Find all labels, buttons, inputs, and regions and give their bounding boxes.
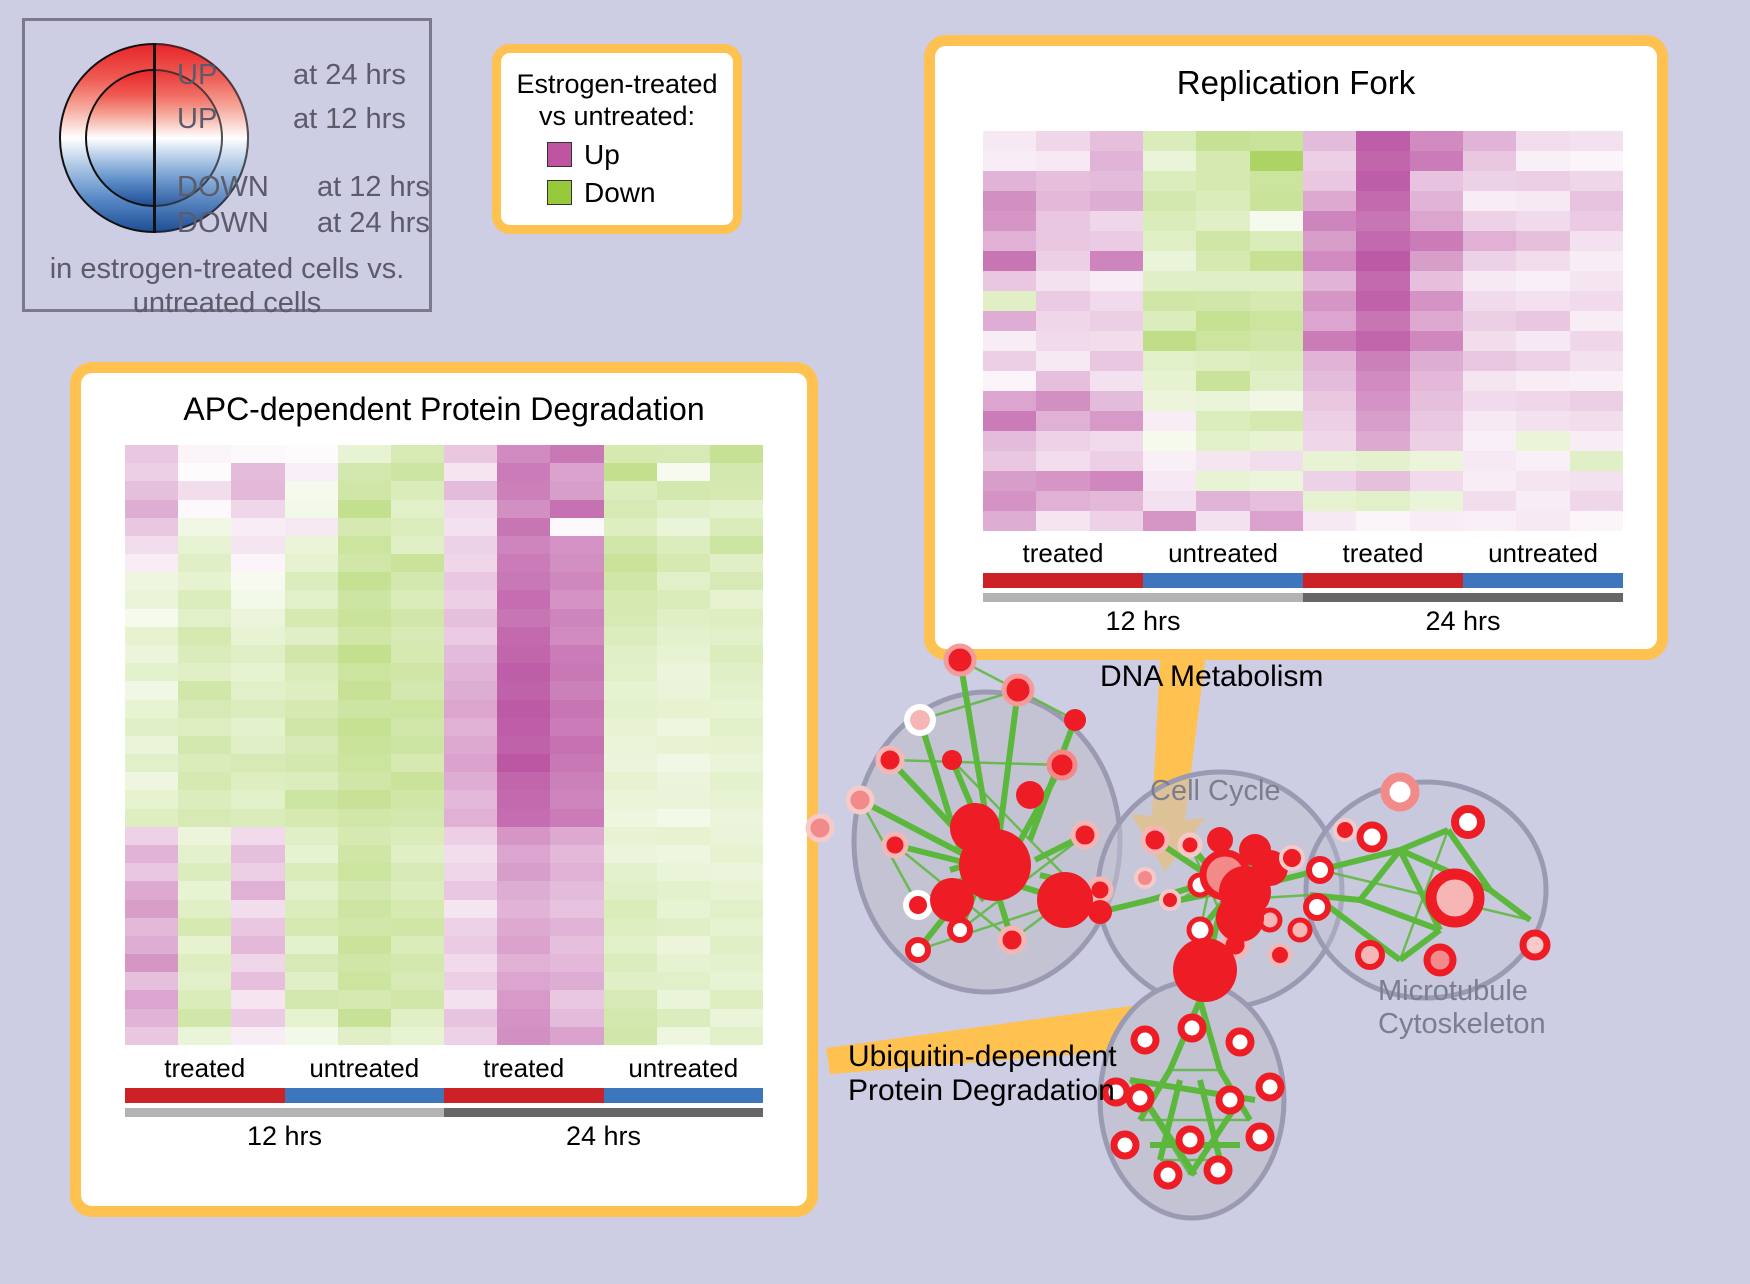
heatmap-cell xyxy=(125,845,178,863)
group-bar-treated-24 xyxy=(444,1088,604,1103)
heatmap-cell xyxy=(285,990,338,1008)
heatmap-cell xyxy=(231,572,284,590)
heatmap-cell xyxy=(1463,191,1516,211)
network-node xyxy=(1049,752,1075,778)
heatmap-cell xyxy=(1090,271,1143,291)
heatmap-cell xyxy=(231,1009,284,1027)
heatmap-cell xyxy=(444,754,497,772)
heatmap-cell xyxy=(1143,151,1196,171)
heatmap-cell xyxy=(1303,411,1356,431)
heatmap-cell xyxy=(983,151,1036,171)
heatmap-cell xyxy=(1250,271,1303,291)
heatmap-cell xyxy=(1410,391,1463,411)
heatmap-cell xyxy=(710,827,763,845)
heatmap-cell xyxy=(497,663,550,681)
heatmap-cell xyxy=(983,211,1036,231)
heatmap-cell xyxy=(391,463,444,481)
heatmap-cell xyxy=(497,445,550,463)
heatmap-cell xyxy=(1196,251,1249,271)
treatment-color-bar xyxy=(125,1088,763,1103)
heatmap-cell xyxy=(1090,411,1143,431)
heatmap-cell xyxy=(983,271,1036,291)
heatmap-cell xyxy=(550,900,603,918)
heatmap-cell xyxy=(1463,331,1516,351)
heatmap-cell xyxy=(1463,271,1516,291)
heatmap-cell xyxy=(338,718,391,736)
heatmap-cell xyxy=(1250,291,1303,311)
estrogen-legend-title: Estrogen-treated vs untreated: xyxy=(515,69,719,133)
heatmap-cell xyxy=(125,754,178,772)
heatmap-cell xyxy=(1410,351,1463,371)
heatmap-cell xyxy=(1463,471,1516,491)
heatmap-cell xyxy=(710,863,763,881)
estrogen-comparison-legend: Estrogen-treated vs untreated: Up Down xyxy=(492,44,742,234)
heatmap-cell xyxy=(1356,131,1409,151)
heatmap-cell xyxy=(1143,271,1196,291)
heatmap-cell xyxy=(1463,411,1516,431)
heatmap-cell xyxy=(1303,291,1356,311)
down-label: Down xyxy=(584,177,656,209)
heatmap-cell xyxy=(285,463,338,481)
heatmap-cell xyxy=(657,518,710,536)
heatmap-cell xyxy=(125,827,178,845)
heatmap-cell xyxy=(178,809,231,827)
heatmap-cell xyxy=(444,445,497,463)
heatmap-cell xyxy=(1516,131,1569,151)
heatmap-cell xyxy=(1143,451,1196,471)
heatmap-cell xyxy=(391,900,444,918)
heatmap-cell xyxy=(1463,291,1516,311)
network-node xyxy=(907,707,933,733)
heatmap-cell xyxy=(178,990,231,1008)
heatmap-cell xyxy=(604,772,657,790)
heatmap-cell xyxy=(1250,451,1303,471)
heatmap-cell xyxy=(497,463,550,481)
heatmap-cell xyxy=(1356,351,1409,371)
heatmap-cell xyxy=(125,536,178,554)
heatmap-cell xyxy=(710,772,763,790)
heatmap-cell xyxy=(444,972,497,990)
heatmap-cell xyxy=(338,936,391,954)
network-node xyxy=(1385,777,1415,807)
heatmap-cell xyxy=(125,645,178,663)
heatmap-cell xyxy=(550,918,603,936)
heatmap-cell xyxy=(710,645,763,663)
heatmap-cell xyxy=(391,863,444,881)
heatmap-cell xyxy=(444,500,497,518)
heatmap-cell xyxy=(1090,131,1143,151)
heatmap-cell xyxy=(1090,511,1143,531)
heatmap-cell xyxy=(710,681,763,699)
legend-time-24-down: at 24 hrs xyxy=(317,207,430,240)
heatmap-cell xyxy=(178,754,231,772)
heatmap-cell xyxy=(657,845,710,863)
heatmap-cell xyxy=(710,790,763,808)
heatmap-cell xyxy=(710,900,763,918)
heatmap-cell xyxy=(497,827,550,845)
heatmap-cell xyxy=(604,536,657,554)
heatmap-cell xyxy=(550,500,603,518)
heatmap-cell xyxy=(285,881,338,899)
heatmap-cell xyxy=(1143,251,1196,271)
heatmap-cell xyxy=(178,663,231,681)
heatmap-cell xyxy=(125,936,178,954)
heatmap-cell xyxy=(710,590,763,608)
heatmap-cell xyxy=(444,590,497,608)
replication-fork-title: Replication Fork xyxy=(935,64,1657,102)
heatmap-cell xyxy=(1250,371,1303,391)
heatmap-cell xyxy=(1036,131,1089,151)
network-node xyxy=(1270,945,1290,965)
heatmap-cell xyxy=(1303,251,1356,271)
heatmap-cell xyxy=(657,736,710,754)
heatmap-cell xyxy=(231,990,284,1008)
heatmap-cell xyxy=(1250,351,1303,371)
heatmap-cell xyxy=(1303,231,1356,251)
heatmap-cell xyxy=(1516,311,1569,331)
heatmap-cell xyxy=(1570,451,1623,471)
heatmap-cell xyxy=(550,663,603,681)
heatmap-cell xyxy=(710,881,763,899)
heatmap-cell xyxy=(710,572,763,590)
heatmap-cell xyxy=(125,736,178,754)
heatmap-cell xyxy=(1516,191,1569,211)
network-node xyxy=(946,646,974,674)
heatmap-cell xyxy=(657,809,710,827)
heatmap-cell xyxy=(231,1027,284,1045)
heatmap-cell xyxy=(604,700,657,718)
heatmap-cell xyxy=(1410,251,1463,271)
network-node xyxy=(1134,1029,1156,1051)
heatmap-cell xyxy=(550,572,603,590)
heatmap-cell xyxy=(1463,151,1516,171)
heatmap-cell xyxy=(178,554,231,572)
group-bar-treated-24 xyxy=(1303,573,1463,588)
heatmap-cell xyxy=(338,1009,391,1027)
heatmap-cell xyxy=(1356,431,1409,451)
heatmap-cell xyxy=(657,681,710,699)
network-node xyxy=(1309,859,1331,881)
heatmap-cell xyxy=(550,936,603,954)
heatmap-cell xyxy=(1516,351,1569,371)
replication-fork-heatmap xyxy=(983,131,1623,531)
apc-title: APC-dependent Protein Degradation xyxy=(81,391,807,428)
heatmap-cell xyxy=(444,845,497,863)
heatmap-cell xyxy=(231,681,284,699)
heatmap-cell xyxy=(1143,311,1196,331)
heatmap-cell xyxy=(550,518,603,536)
heatmap-cell xyxy=(125,500,178,518)
heatmap-cell xyxy=(178,700,231,718)
heatmap-cell xyxy=(1410,471,1463,491)
network-node-hub xyxy=(1216,894,1264,942)
heatmap-cell xyxy=(1196,131,1249,151)
heatmap-cell xyxy=(1250,411,1303,431)
heatmap-cell xyxy=(550,445,603,463)
heatmap-cell xyxy=(1356,291,1409,311)
heatmap-cell xyxy=(1036,251,1089,271)
heatmap-cell xyxy=(338,554,391,572)
heatmap-cell xyxy=(983,311,1036,331)
cluster-label-microtubule-cytoskeleton: Microtubule Cytoskeleton xyxy=(1378,975,1546,1041)
heatmap-cell xyxy=(1036,431,1089,451)
heatmap-cell xyxy=(231,809,284,827)
heatmap-cell xyxy=(1143,351,1196,371)
heatmap-cell xyxy=(125,972,178,990)
heatmap-cell xyxy=(1036,371,1089,391)
heatmap-cell xyxy=(604,990,657,1008)
panel-apc-dependent-protein-degradation: APC-dependent Protein Degradation treate… xyxy=(70,362,818,1217)
heatmap-cell xyxy=(657,900,710,918)
heatmap-cell xyxy=(550,554,603,572)
group-label: treated xyxy=(444,1053,604,1084)
heatmap-cell xyxy=(497,954,550,972)
heatmap-cell xyxy=(983,351,1036,371)
heatmap-cell xyxy=(1090,151,1143,171)
network-node xyxy=(1064,709,1086,731)
heatmap-cell xyxy=(444,554,497,572)
heatmap-cell xyxy=(1356,511,1409,531)
heatmap-cell xyxy=(1196,331,1249,351)
heatmap-cell xyxy=(604,463,657,481)
heatmap-cell xyxy=(125,590,178,608)
heatmap-cell xyxy=(550,627,603,645)
network-node xyxy=(1335,820,1355,840)
heatmap-cell xyxy=(1410,151,1463,171)
heatmap-cell xyxy=(604,790,657,808)
heatmap-cell xyxy=(1196,171,1249,191)
heatmap-cell xyxy=(710,845,763,863)
heatmap-cell xyxy=(444,900,497,918)
heatmap-cell xyxy=(231,445,284,463)
heatmap-cell xyxy=(391,663,444,681)
heatmap-cell xyxy=(983,251,1036,271)
network-node xyxy=(1180,835,1200,855)
heatmap-cell xyxy=(983,471,1036,491)
heatmap-cell xyxy=(444,1009,497,1027)
heatmap-cell xyxy=(391,772,444,790)
group-label: untreated xyxy=(1143,538,1303,569)
heatmap-cell xyxy=(710,936,763,954)
heatmap-cell xyxy=(125,554,178,572)
heatmap-cell xyxy=(231,663,284,681)
heatmap-cell xyxy=(1570,151,1623,171)
heatmap-cell xyxy=(550,536,603,554)
heatmap-cell xyxy=(338,700,391,718)
heatmap-cell xyxy=(391,936,444,954)
heatmap-cell xyxy=(1356,211,1409,231)
heatmap-cell xyxy=(444,681,497,699)
heatmap-cell xyxy=(604,1009,657,1027)
heatmap-cell xyxy=(444,790,497,808)
heatmap-cell xyxy=(497,863,550,881)
heatmap-cell xyxy=(1196,151,1249,171)
heatmap-cell xyxy=(391,990,444,1008)
heatmap-cell xyxy=(1463,371,1516,391)
heatmap-cell xyxy=(710,445,763,463)
heatmap-cell xyxy=(444,772,497,790)
heatmap-cell xyxy=(125,1009,178,1027)
heatmap-cell xyxy=(983,411,1036,431)
group-bar-untreated-12 xyxy=(1143,573,1303,588)
heatmap-cell xyxy=(1463,171,1516,191)
heatmap-cell xyxy=(1410,311,1463,331)
heatmap-cell xyxy=(178,500,231,518)
legend-time-12-down: at 12 hrs xyxy=(317,171,430,204)
heatmap-cell xyxy=(338,481,391,499)
heatmap-cell xyxy=(178,645,231,663)
expression-direction-legend: UP at 24 hrs UP at 12 hrs DOWN at 12 hrs… xyxy=(22,18,432,312)
heatmap-cell xyxy=(231,718,284,736)
heatmap-cell xyxy=(657,863,710,881)
heatmap-cell xyxy=(497,609,550,627)
heatmap-cell xyxy=(657,772,710,790)
heatmap-cell xyxy=(1036,451,1089,471)
heatmap-cell xyxy=(604,609,657,627)
network-node xyxy=(1161,891,1179,909)
heatmap-cell xyxy=(604,518,657,536)
heatmap-cell xyxy=(983,191,1036,211)
heatmap-cell xyxy=(285,627,338,645)
heatmap-cell xyxy=(231,609,284,627)
heatmap-cell xyxy=(1303,451,1356,471)
heatmap-cell xyxy=(231,518,284,536)
network-node xyxy=(1000,928,1024,952)
heatmap-cell xyxy=(231,481,284,499)
treatment-color-bar xyxy=(983,573,1623,588)
heatmap-cell xyxy=(285,645,338,663)
heatmap-cell xyxy=(604,754,657,772)
heatmap-cell xyxy=(231,845,284,863)
heatmap-cell xyxy=(1143,191,1196,211)
heatmap-cell xyxy=(1090,171,1143,191)
heatmap-cell xyxy=(1303,471,1356,491)
heatmap-cell xyxy=(1570,431,1623,451)
heatmap-cell xyxy=(550,1027,603,1045)
heatmap-cell xyxy=(338,918,391,936)
heatmap-cell xyxy=(604,863,657,881)
heatmap-cell xyxy=(285,500,338,518)
heatmap-cell xyxy=(285,827,338,845)
heatmap-cell xyxy=(1516,391,1569,411)
heatmap-cell xyxy=(391,1027,444,1045)
heatmap-cell xyxy=(1356,331,1409,351)
heatmap-cell xyxy=(338,863,391,881)
heatmap-cell xyxy=(338,445,391,463)
heatmap-cell xyxy=(391,590,444,608)
heatmap-cell xyxy=(1570,311,1623,331)
heatmap-cell xyxy=(1410,231,1463,251)
heatmap-cell xyxy=(1303,151,1356,171)
heatmap-cell xyxy=(1570,231,1623,251)
heatmap-cell xyxy=(391,536,444,554)
heatmap-cell xyxy=(178,772,231,790)
heatmap-cell xyxy=(1036,411,1089,431)
heatmap-cell xyxy=(178,863,231,881)
heatmap-cell xyxy=(231,500,284,518)
heatmap-cell xyxy=(1250,311,1303,331)
heatmap-cell xyxy=(657,1027,710,1045)
heatmap-cell xyxy=(1463,311,1516,331)
heatmap-cell xyxy=(1516,211,1569,231)
heatmap-cell xyxy=(178,736,231,754)
heatmap-cell xyxy=(391,627,444,645)
heatmap-cell xyxy=(1196,271,1249,291)
heatmap-cell xyxy=(178,718,231,736)
heatmap-cell xyxy=(604,500,657,518)
heatmap-cell xyxy=(1410,211,1463,231)
heatmap-cell xyxy=(285,972,338,990)
heatmap-cell xyxy=(231,754,284,772)
heatmap-cell xyxy=(338,681,391,699)
heatmap-cell xyxy=(710,536,763,554)
heatmap-cell xyxy=(1570,291,1623,311)
heatmap-cell xyxy=(983,291,1036,311)
heatmap-cell xyxy=(391,572,444,590)
heatmap-cell xyxy=(338,518,391,536)
network-node xyxy=(1073,823,1097,847)
heatmap-cell xyxy=(231,772,284,790)
group-label: treated xyxy=(1303,538,1463,569)
heatmap-cell xyxy=(231,590,284,608)
heatmap-cell xyxy=(710,609,763,627)
heatmap-cell xyxy=(1090,451,1143,471)
heatmap-cell xyxy=(1570,211,1623,231)
heatmap-cell xyxy=(1196,491,1249,511)
heatmap-cell xyxy=(178,900,231,918)
heatmap-cell xyxy=(338,754,391,772)
heatmap-cell xyxy=(1250,191,1303,211)
heatmap-cell xyxy=(231,627,284,645)
heatmap-cell xyxy=(391,645,444,663)
heatmap-cell xyxy=(550,609,603,627)
heatmap-cell xyxy=(1303,491,1356,511)
heatmap-cell xyxy=(1570,371,1623,391)
network-node xyxy=(1523,933,1547,957)
heatmap-cell xyxy=(1303,351,1356,371)
heatmap-cell xyxy=(1570,411,1623,431)
heatmap-cell xyxy=(1143,511,1196,531)
heatmap-cell xyxy=(550,990,603,1008)
heatmap-cell xyxy=(1090,231,1143,251)
heatmap-cell xyxy=(657,881,710,899)
heatmap-cell xyxy=(1356,391,1409,411)
heatmap-cell xyxy=(1463,491,1516,511)
heatmap-cell xyxy=(604,918,657,936)
group-bar-treated-12 xyxy=(983,573,1143,588)
cluster-label-dna-metabolism: DNA Metabolism xyxy=(1100,660,1323,694)
heatmap-cell xyxy=(1516,411,1569,431)
heatmap-cell xyxy=(338,845,391,863)
heatmap-cell xyxy=(1570,391,1623,411)
time-bar-12hrs xyxy=(125,1108,444,1117)
network-node xyxy=(906,893,930,917)
heatmap-cell xyxy=(497,700,550,718)
heatmap-cell xyxy=(1196,391,1249,411)
heatmap-cell xyxy=(1410,331,1463,351)
heatmap-cell xyxy=(1410,371,1463,391)
heatmap-cell xyxy=(178,572,231,590)
heatmap-cell xyxy=(1250,151,1303,171)
time-label-12: 12 hrs xyxy=(125,1121,444,1152)
heatmap-cell xyxy=(338,645,391,663)
heatmap-cell xyxy=(604,954,657,972)
heatmap-cell xyxy=(231,881,284,899)
heatmap-cell xyxy=(1410,191,1463,211)
heatmap-cell xyxy=(1196,371,1249,391)
apc-heatmap xyxy=(125,445,763,1045)
heatmap-cell xyxy=(1196,431,1249,451)
